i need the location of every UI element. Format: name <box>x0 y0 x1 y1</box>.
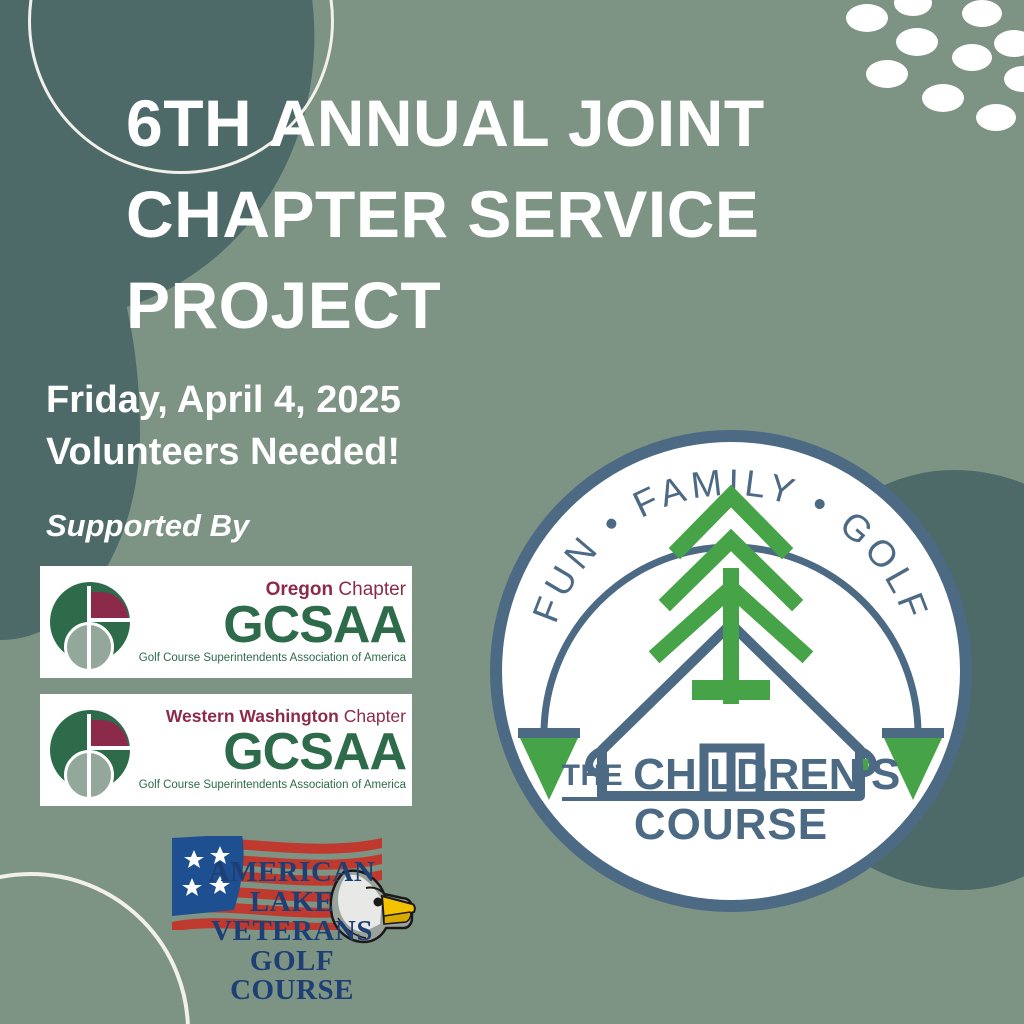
gcsaa-tagline: Golf Course Superintendents Association … <box>138 780 406 792</box>
alvgc-line-2: VETERANS GOLF <box>168 917 416 976</box>
circle-outline-bottom-left-icon <box>0 872 190 1024</box>
badge-apostrophe-icon: ' <box>861 750 871 799</box>
sponsor-logo-american-lake-veterans-golf-course: AMERICAN LAKE VETERANS GOLF COURSE <box>168 832 416 1008</box>
confetti-dot-icon <box>994 30 1024 57</box>
gcsaa-wordmark: GCSAA <box>138 728 406 777</box>
headline-line-3: PROJECT <box>126 260 886 351</box>
headline-line-2: CHAPTER SERVICE <box>126 169 886 260</box>
event-date: Friday, April 4, 2025 <box>46 374 606 426</box>
alvgc-wordmark: AMERICAN LAKE VETERANS GOLF COURSE <box>168 858 416 1006</box>
sponsor-logo-gcsaa-oregon: Oregon Chapter GCSAA Golf Course Superin… <box>40 566 412 678</box>
confetti-dot-icon <box>896 28 938 56</box>
gcsaa-tagline: Golf Course Superintendents Association … <box>138 653 406 665</box>
gcsaa-golf-flag-emblem-icon <box>46 576 138 668</box>
confetti-dot-icon <box>976 104 1016 131</box>
poster-headline: 6TH ANNUAL JOINT CHAPTER SERVICE PROJECT <box>126 78 886 351</box>
poster-canvas: 6TH ANNUAL JOINT CHAPTER SERVICE PROJECT… <box>0 0 1024 1024</box>
alvgc-line-3: COURSE <box>168 976 416 1006</box>
badge-childrens-suffix: S <box>871 750 900 799</box>
confetti-dot-icon <box>922 84 964 112</box>
badge-wordmark-line-1: THECHILDREN'S <box>488 750 974 800</box>
badge-childrens-label: CHILDREN <box>633 750 860 799</box>
badge-wordmark-line-2: COURSE <box>488 800 974 850</box>
childrens-course-logo-badge: FUN • FAMILY • GOLF <box>488 428 974 914</box>
confetti-dot-icon <box>846 4 888 32</box>
gcsaa-wordmark: GCSAA <box>138 601 406 650</box>
supported-by-label: Supported By <box>46 508 249 544</box>
confetti-dot-icon <box>952 44 992 71</box>
badge-the-label: THE <box>562 759 624 793</box>
alvgc-line-1: AMERICAN LAKE <box>168 858 416 917</box>
gcsaa-golf-flag-emblem-icon <box>46 704 138 796</box>
confetti-dot-icon <box>962 0 1002 27</box>
confetti-dot-icon <box>894 0 932 16</box>
confetti-dot-icon <box>1004 66 1024 92</box>
sponsor-logo-gcsaa-western-washington: Western Washington Chapter GCSAA Golf Co… <box>40 694 412 806</box>
headline-line-1: 6TH ANNUAL JOINT <box>126 78 886 169</box>
